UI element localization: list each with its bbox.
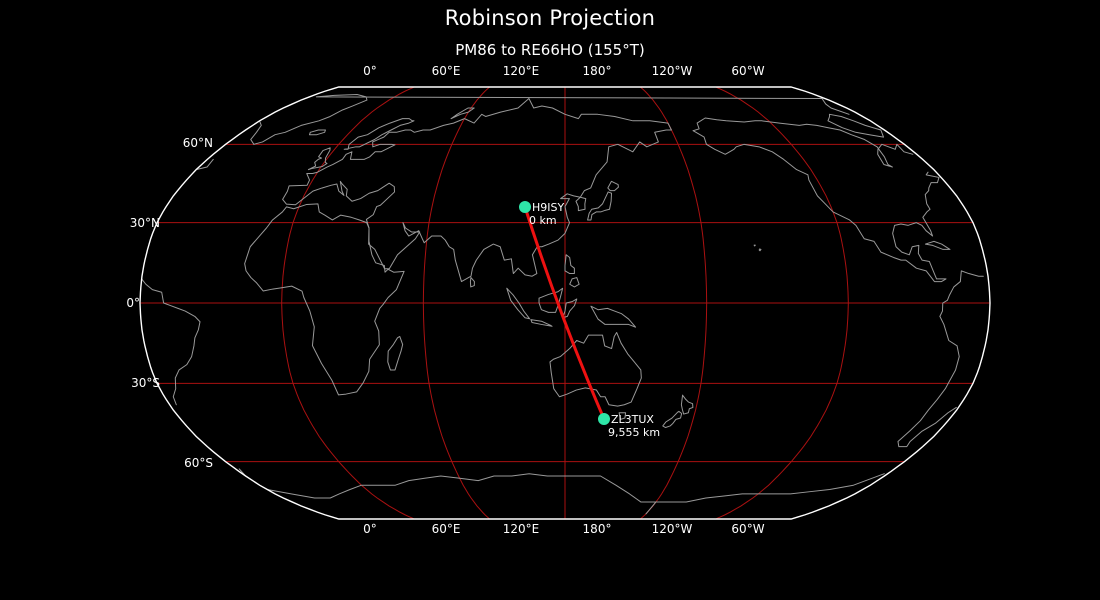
- lon-tick-label: 180°: [583, 64, 612, 78]
- coastlines: [142, 95, 984, 514]
- robinson-map-svg: 0°0°60°E60°E120°E120°E180°180°120°W120°W…: [0, 0, 1100, 600]
- coastline-segment: [531, 320, 552, 327]
- graticule-lines: [140, 87, 990, 519]
- coastline-segment: [925, 241, 950, 249]
- marker-callsign-label: H9ISY: [532, 201, 564, 214]
- coastline-segment: [663, 411, 682, 427]
- map-canvas: 0°0°60°E60°E120°E120°E180°180°120°W120°W…: [126, 64, 990, 536]
- lon-tick-label: 60°E: [432, 64, 461, 78]
- coastline-segment: [550, 332, 641, 406]
- coastline-segment: [570, 278, 579, 287]
- marker-distance-label: 9,555 km: [608, 426, 660, 439]
- coastline-segment: [388, 336, 403, 369]
- marker-distance-label: 0 km: [529, 214, 557, 227]
- coastline-segment: [898, 316, 959, 446]
- coastline-segment: [565, 255, 574, 274]
- coastline-segment: [251, 121, 262, 145]
- lon-tick-label: 0°: [363, 522, 377, 536]
- lon-tick-label: 60°E: [432, 522, 461, 536]
- coastline-segment: [693, 118, 913, 167]
- point-labels: H9ISY0 kmZL3TUX9,555 km: [529, 201, 660, 439]
- lon-tick-label: 60°W: [731, 64, 764, 78]
- lat-tick-label: 60°N: [183, 136, 213, 150]
- coastline-segment: [283, 99, 672, 282]
- coastline-segment: [656, 474, 884, 502]
- lat-tick-label: 0°: [126, 296, 140, 310]
- coastline-segment: [451, 108, 474, 119]
- map-figure: Robinson Projection PM86 to RE66HO (155°…: [0, 0, 1100, 600]
- marker-callsign-label: ZL3TUX: [611, 413, 654, 426]
- lon-tick-label: 120°E: [503, 64, 540, 78]
- coastline-segment: [576, 197, 586, 210]
- coastline-segment: [591, 306, 636, 327]
- coastline-segment: [681, 395, 693, 414]
- coastline-segment: [309, 130, 325, 135]
- lon-tick-label: 0°: [363, 64, 377, 78]
- coastline-segment: [828, 114, 884, 137]
- coastline-segment: [267, 474, 656, 514]
- marker-zl3tux[interactable]: [598, 413, 610, 425]
- lat-tick-label: 30°S: [131, 376, 160, 390]
- marker-h9isy[interactable]: [519, 201, 531, 213]
- coastline-segment: [470, 278, 474, 287]
- lon-tick-label: 120°W: [652, 64, 693, 78]
- lon-tick-label: 120°E: [503, 522, 540, 536]
- coastline-segment: [759, 249, 761, 251]
- coastline-segment: [254, 95, 849, 145]
- lon-tick-label: 60°W: [731, 522, 764, 536]
- lon-tick-label: 180°: [583, 522, 612, 536]
- lat-tick-label: 30°N: [130, 216, 160, 230]
- coastline-segment: [608, 181, 619, 190]
- lon-tick-label: 120°W: [652, 522, 693, 536]
- coastline-segment: [940, 271, 983, 317]
- coastline-segment: [588, 192, 612, 220]
- coastline-segment: [754, 245, 755, 246]
- coastline-segment: [507, 288, 530, 319]
- coastline-segment: [245, 204, 404, 395]
- lat-tick-label: 60°S: [184, 456, 213, 470]
